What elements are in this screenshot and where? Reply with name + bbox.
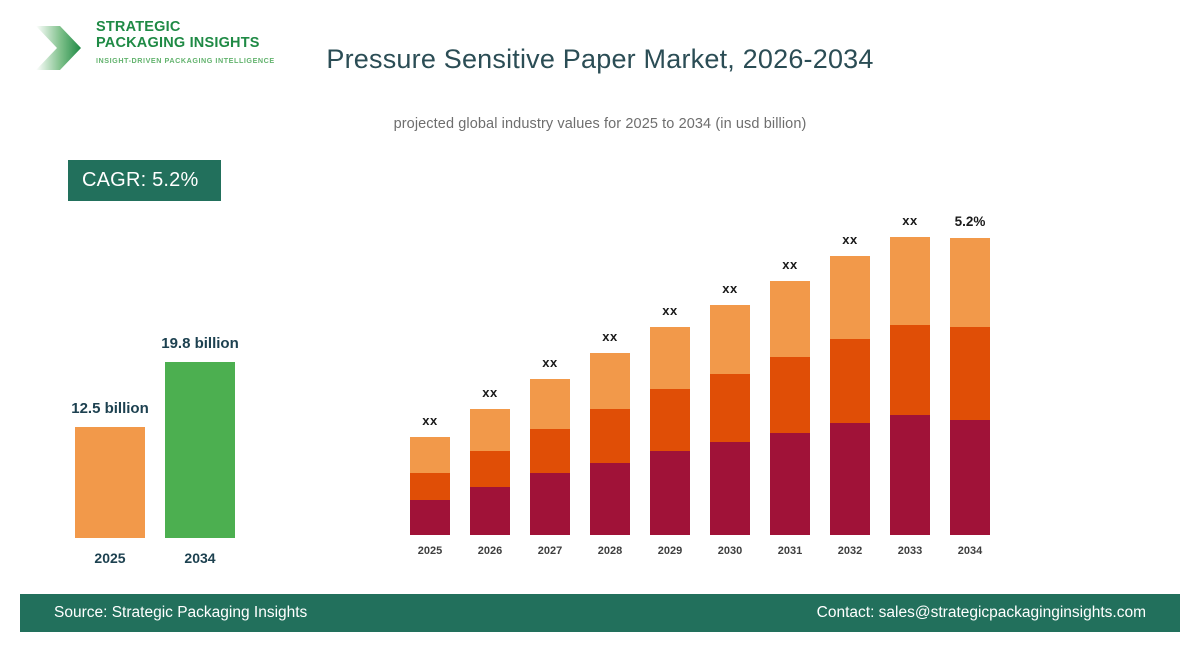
stacked-bar-segment-segment-2 [530,429,570,473]
stacked-bar [650,327,690,535]
stacked-bar-segment-segment-1 [710,442,750,535]
stacked-bar-group: xx2033 [880,200,940,565]
stacked-bar-segment-segment-3 [530,379,570,429]
footer-contact: Contact: sales@strategicpackaginginsight… [817,604,1146,622]
stacked-bar-segment-segment-3 [950,238,990,327]
stacked-bar-year-label: 2033 [880,545,940,557]
stacked-bar-year-label: 2027 [520,545,580,557]
stacked-bar-value-label: xx [580,329,640,344]
endpoint-bar-chart: 12.5 billion202519.8 billion2034 [50,320,310,570]
stacked-bar [830,256,870,535]
stacked-bar-group: xx2026 [460,200,520,565]
stacked-bar-group: xx2027 [520,200,580,565]
stacked-bar [950,238,990,535]
stacked-bar [890,237,930,535]
stacked-bar-group: 5.2%2034 [940,200,1000,565]
stacked-bar-year-label: 2026 [460,545,520,557]
stacked-bar [590,353,630,535]
stacked-bar-value-label: xx [520,355,580,370]
footer-bar: Source: Strategic Packaging Insights Con… [20,594,1180,632]
stacked-bar [530,379,570,535]
stacked-bar-segment-segment-2 [710,374,750,442]
stacked-bar [770,281,810,535]
stacked-bar-value-label: xx [880,213,940,228]
stacked-bar-value-label: xx [400,413,460,428]
page-title: Pressure Sensitive Paper Market, 2026-20… [0,44,1200,75]
stacked-bar-group: xx2029 [640,200,700,565]
stacked-bar-chart: xx2025xx2026xx2027xx2028xx2029xx2030xx20… [400,200,1020,565]
stacked-bar-segment-segment-2 [890,325,930,415]
stacked-bar-segment-segment-1 [770,433,810,535]
stacked-bar-value-label: xx [640,303,700,318]
logo-line-1: STRATEGIC [96,20,275,36]
stacked-bar-segment-segment-3 [830,256,870,339]
page-subtitle: projected global industry values for 202… [0,116,1200,132]
stacked-bar-year-label: 2031 [760,545,820,557]
stacked-bar [470,409,510,535]
stacked-bar-segment-segment-1 [830,423,870,535]
stacked-bar-segment-segment-3 [410,437,450,473]
stacked-bar-value-label: xx [760,257,820,272]
stacked-bar-segment-segment-1 [410,500,450,535]
stacked-bar [410,437,450,535]
cagr-badge-label: CAGR: 5.2% [82,169,198,192]
stacked-bar-segment-segment-1 [890,415,930,535]
stacked-bar-year-label: 2030 [700,545,760,557]
stacked-bar-segment-segment-3 [650,327,690,389]
stacked-bar-segment-segment-1 [590,463,630,535]
footer-source: Source: Strategic Packaging Insights [54,604,307,622]
stacked-bar-segment-segment-2 [650,389,690,451]
stacked-bar-segment-segment-3 [890,237,930,325]
stacked-bar-segment-segment-2 [950,327,990,420]
stacked-bar-segment-segment-2 [470,451,510,487]
stacked-bar-year-label: 2034 [940,545,1000,557]
stacked-bar-segment-segment-3 [590,353,630,409]
stacked-bar-value-label: 5.2% [940,214,1000,229]
cagr-badge: CAGR: 5.2% [68,160,221,201]
endpoint-bar-value-label: 12.5 billion [55,400,165,417]
stacked-bar-segment-segment-3 [770,281,810,357]
stacked-bar-segment-segment-1 [470,487,510,535]
stacked-bar-group: xx2025 [400,200,460,565]
stacked-bar-year-label: 2028 [580,545,640,557]
stacked-bar-segment-segment-3 [710,305,750,374]
stacked-bar-value-label: xx [700,281,760,296]
endpoint-bar-year-label: 2034 [145,550,255,566]
stacked-bar-segment-segment-2 [590,409,630,463]
stacked-bar-year-label: 2032 [820,545,880,557]
stacked-bar-group: xx2028 [580,200,640,565]
stacked-bar-year-label: 2029 [640,545,700,557]
stacked-bar-segment-segment-2 [830,339,870,423]
endpoint-bar [165,362,235,538]
stacked-bar-group: xx2032 [820,200,880,565]
stacked-bar-segment-segment-1 [530,473,570,535]
endpoint-bar-value-label: 19.8 billion [145,335,255,352]
stacked-bar-segment-segment-3 [470,409,510,451]
stacked-bar-segment-segment-1 [650,451,690,535]
stacked-bar-value-label: xx [460,385,520,400]
stacked-bar-value-label: xx [820,232,880,247]
stacked-bar-year-label: 2025 [400,545,460,557]
endpoint-bar [75,427,145,538]
stacked-bar-group: xx2031 [760,200,820,565]
stacked-bar [710,305,750,535]
stacked-bar-segment-segment-2 [410,473,450,500]
stacked-bar-segment-segment-2 [770,357,810,433]
stacked-bar-segment-segment-1 [950,420,990,535]
stacked-bar-group: xx2030 [700,200,760,565]
